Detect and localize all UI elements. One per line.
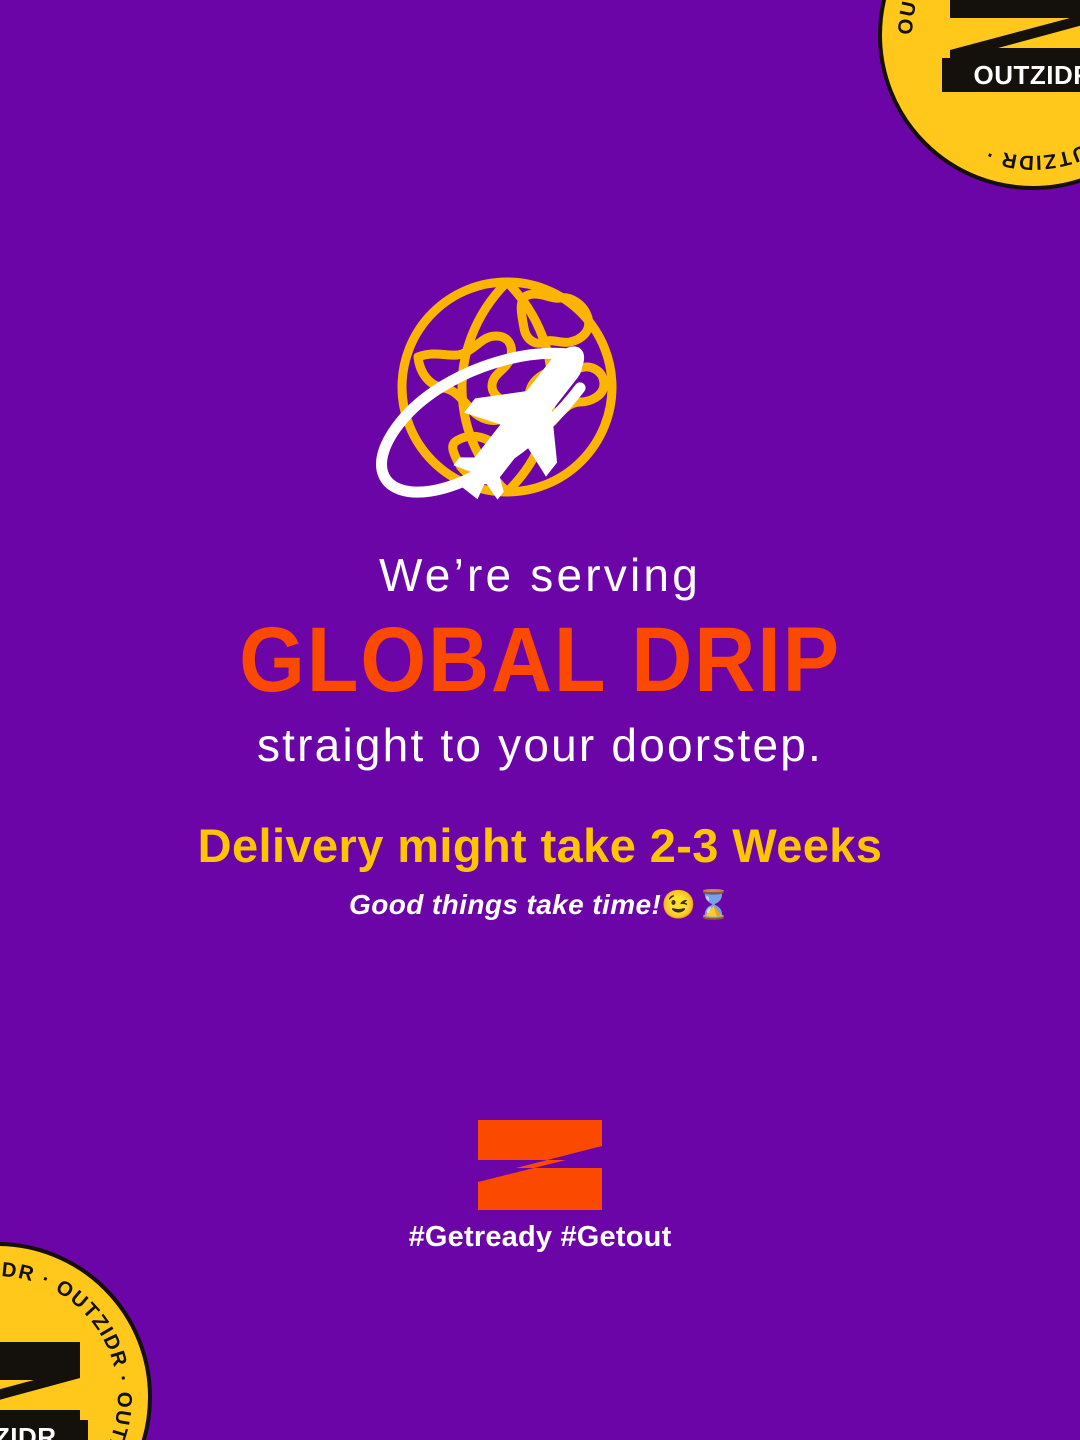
badge-wordmark-text: OUTZIDR xyxy=(0,1424,57,1440)
hashtags-text: #Getready #Getout xyxy=(0,1220,1080,1255)
poster-canvas: OUTZIDR · OUTZIDR · OUTZIDR · OUTZIDR · … xyxy=(0,0,1080,1440)
kicker-text: We’re serving xyxy=(0,548,1080,602)
hero-illustration xyxy=(0,262,1080,512)
badge-wordmark-text: OUTZIDR xyxy=(973,62,1080,88)
badge-top-right: OUTZIDR · OUTZIDR · OUTZIDR · OUTZIDR · … xyxy=(878,0,1080,190)
wink-hourglass-emoji: 😉⌛ xyxy=(661,889,731,920)
delivery-note-text: Good things take time! xyxy=(349,889,661,920)
footer-block: #Getready #Getout xyxy=(0,1120,1080,1255)
subline-text: straight to your doorstep. xyxy=(0,718,1080,773)
badge-bottom-left: OUTZIDR · OUTZIDR · OUTZIDR · OUTZIDR · … xyxy=(0,1242,152,1440)
delivery-notice-block: Delivery might take 2-3 Weeks Good thing… xyxy=(0,818,1080,922)
outzidr-z-logo-icon xyxy=(478,1120,602,1210)
badge-wordmark-bottom-left: OUTZIDR xyxy=(0,1420,88,1440)
headline-block: We’re serving GLOBAL DRIP straight to yo… xyxy=(0,548,1080,773)
headline-text: GLOBAL DRIP xyxy=(43,608,1037,714)
badge-core-top-right: OUTZIDR xyxy=(942,0,1080,94)
delivery-time-text: Delivery might take 2-3 Weeks xyxy=(0,818,1080,874)
globe-airplane-icon xyxy=(340,262,740,512)
badge-wordmark-top-right: OUTZIDR xyxy=(942,58,1080,92)
badge-core-bottom-left: OUTZIDR xyxy=(0,1338,88,1440)
delivery-note-line: Good things take time!😉⌛ xyxy=(0,888,1080,922)
